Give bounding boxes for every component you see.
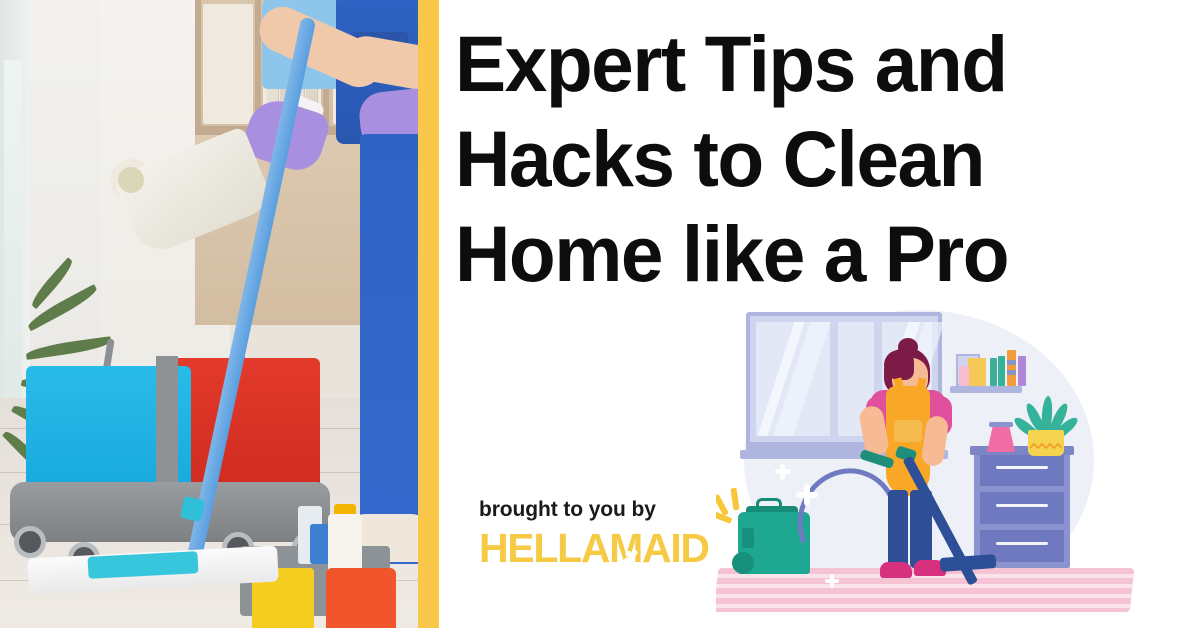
picture-frame-icon xyxy=(968,358,986,386)
orange-glove-icon xyxy=(326,568,396,628)
cleaning-cart-icon xyxy=(10,356,340,596)
cleaning-illustration xyxy=(716,300,1200,628)
logo-wordmark-text: HELLAMAID xyxy=(479,525,709,571)
dresser-icon xyxy=(974,448,1070,568)
cleaner-legs xyxy=(360,134,418,564)
logo-tagline: brought to you by xyxy=(479,498,709,522)
yellow-divider xyxy=(418,0,439,628)
sparkle-icon xyxy=(775,469,791,474)
sparkle-icon xyxy=(796,492,818,498)
maid-figure-icon xyxy=(615,538,641,564)
logo-wordmark: HELLAMAID xyxy=(479,526,709,570)
headline-line-2: Hacks to Clean xyxy=(455,111,1163,206)
headline-line-3: Home like a Pro xyxy=(455,206,1163,301)
headline-line-1: Expert Tips and xyxy=(455,16,1163,111)
woman-vacuuming-icon xyxy=(866,338,970,578)
sparkle-icon xyxy=(825,579,839,583)
page-title: Expert Tips and Hacks to Clean Home like… xyxy=(455,16,1163,301)
banner-graphic: Expert Tips and Hacks to Clean Home like… xyxy=(0,0,1200,628)
brand-logo[interactable]: brought to you by HELLAMAID xyxy=(479,498,709,570)
book-stack-icon xyxy=(990,358,997,386)
cleaning-photo xyxy=(0,0,418,628)
